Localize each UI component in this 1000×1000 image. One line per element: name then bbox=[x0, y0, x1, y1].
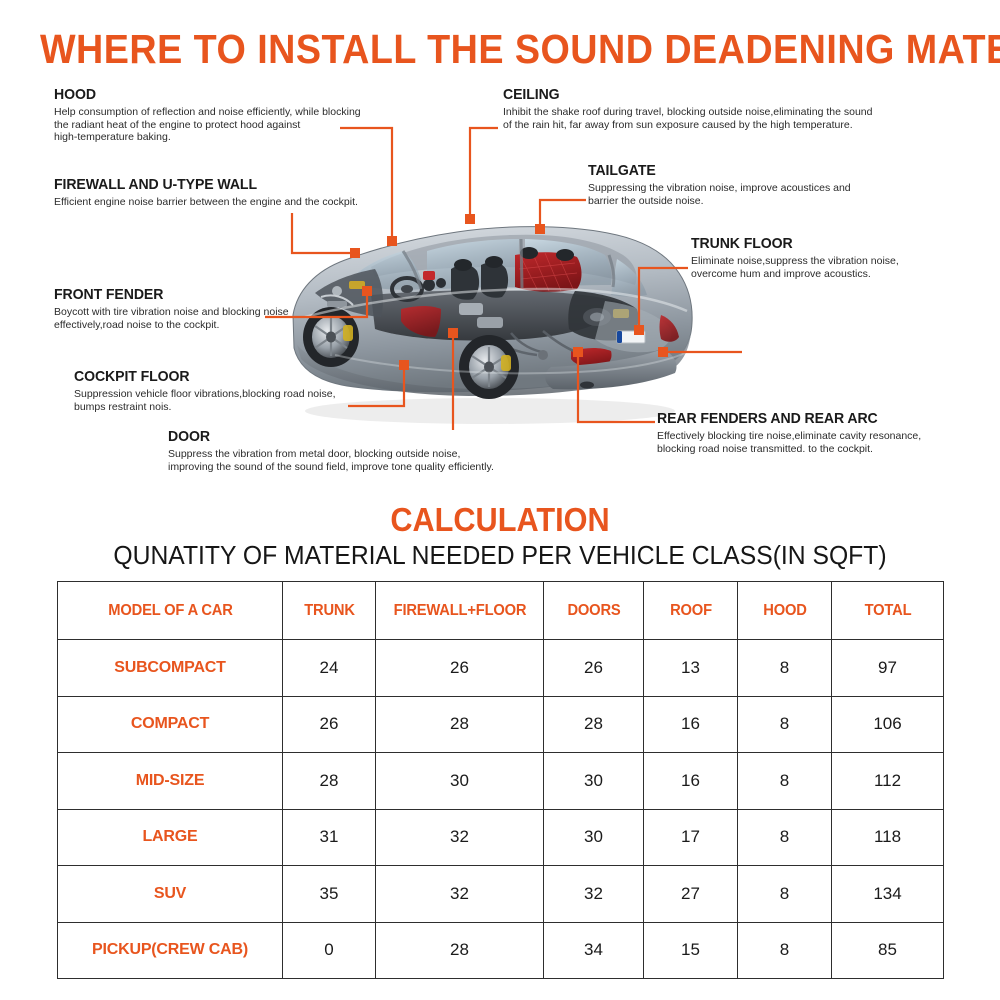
cell-roof: 17 bbox=[644, 809, 738, 866]
callout-firewall-desc: Efficient engine noise barrier between t… bbox=[54, 196, 454, 209]
cell-doors: 28 bbox=[544, 696, 644, 753]
callout-front-fender: FRONT FENDER Boycott with tire vibration… bbox=[54, 286, 384, 331]
cell-model: COMPACT bbox=[58, 696, 283, 753]
cell-total: 97 bbox=[832, 640, 944, 697]
cell-trunk: 24 bbox=[283, 640, 376, 697]
cell-doors: 30 bbox=[544, 809, 644, 866]
cell-firewall-floor: 26 bbox=[376, 640, 544, 697]
cell-total: 106 bbox=[832, 696, 944, 753]
callout-hood-desc: Help consumption of reflection and noise… bbox=[54, 106, 414, 144]
callout-cockpit-floor: COCKPIT FLOOR Suppression vehicle floor … bbox=[74, 368, 404, 413]
material-quantity-table: MODEL OF A CAR TRUNK FIREWALL+FLOOR DOOR… bbox=[57, 581, 944, 979]
table-row: COMPACT 26 28 28 16 8 106 bbox=[58, 696, 944, 753]
callout-tailgate-title: TAILGATE bbox=[588, 162, 936, 179]
cell-firewall-floor: 28 bbox=[376, 922, 544, 979]
cell-total: 85 bbox=[832, 922, 944, 979]
cell-roof: 15 bbox=[644, 922, 738, 979]
callout-tailgate: TAILGATE Suppressing the vibration noise… bbox=[588, 162, 958, 207]
page-title: WHERE TO INSTALL THE SOUND DEADENING MAT… bbox=[40, 26, 960, 73]
cell-trunk: 26 bbox=[283, 696, 376, 753]
callout-door-title: DOOR bbox=[168, 428, 544, 445]
col-header-firewall-floor: FIREWALL+FLOOR bbox=[380, 582, 540, 640]
table-header-row: MODEL OF A CAR TRUNK FIREWALL+FLOOR DOOR… bbox=[58, 582, 944, 640]
table-row: SUBCOMPACT 24 26 26 13 8 97 bbox=[58, 640, 944, 697]
cell-roof: 13 bbox=[644, 640, 738, 697]
cell-roof: 27 bbox=[644, 866, 738, 923]
cell-hood: 8 bbox=[738, 640, 832, 697]
col-header-roof: ROOF bbox=[646, 582, 735, 640]
cell-model: PICKUP(CREW CAB) bbox=[58, 922, 283, 979]
callout-ceiling: CEILING Inhibit the shake roof during tr… bbox=[503, 86, 963, 131]
cell-trunk: 31 bbox=[283, 809, 376, 866]
callout-hood: HOOD Help consumption of reflection and … bbox=[54, 86, 414, 144]
callout-ceiling-desc: Inhibit the shake roof during travel, bl… bbox=[503, 106, 963, 131]
cell-total: 112 bbox=[832, 753, 944, 810]
callout-door-desc: Suppress the vibration from metal door, … bbox=[168, 448, 568, 473]
cell-hood: 8 bbox=[738, 753, 832, 810]
cell-doors: 34 bbox=[544, 922, 644, 979]
cell-doors: 32 bbox=[544, 866, 644, 923]
cell-firewall-floor: 30 bbox=[376, 753, 544, 810]
cell-roof: 16 bbox=[644, 696, 738, 753]
callout-cockpit-floor-desc: Suppression vehicle floor vibrations,blo… bbox=[74, 388, 404, 413]
cell-hood: 8 bbox=[738, 866, 832, 923]
cell-total: 118 bbox=[832, 809, 944, 866]
cell-doors: 26 bbox=[544, 640, 644, 697]
callout-trunk-floor: TRUNK FLOOR Eliminate noise,suppress the… bbox=[691, 235, 981, 280]
callout-door: DOOR Suppress the vibration from metal d… bbox=[168, 428, 568, 473]
table-row: MID-SIZE 28 30 30 16 8 112 bbox=[58, 753, 944, 810]
cell-trunk: 35 bbox=[283, 866, 376, 923]
callout-firewall-title: FIREWALL AND U-TYPE WALL bbox=[54, 176, 430, 193]
cell-model: MID-SIZE bbox=[58, 753, 283, 810]
callout-cockpit-floor-title: COCKPIT FLOOR bbox=[74, 368, 384, 385]
table-row: PICKUP(CREW CAB) 0 28 34 15 8 85 bbox=[58, 922, 944, 979]
table-row: LARGE 31 32 30 17 8 118 bbox=[58, 809, 944, 866]
callout-ceiling-title: CEILING bbox=[503, 86, 935, 103]
col-header-total: TOTAL bbox=[834, 582, 940, 640]
col-header-model: MODEL OF A CAR bbox=[63, 582, 277, 640]
cell-doors: 30 bbox=[544, 753, 644, 810]
table-row: SUV 35 32 32 27 8 134 bbox=[58, 866, 944, 923]
cell-model: SUV bbox=[58, 866, 283, 923]
callout-rear-fenders: REAR FENDERS AND REAR ARC Effectively bl… bbox=[657, 410, 987, 455]
callout-firewall: FIREWALL AND U-TYPE WALL Efficient engin… bbox=[54, 176, 454, 209]
callout-rear-fenders-title: REAR FENDERS AND REAR ARC bbox=[657, 410, 967, 427]
cell-trunk: 28 bbox=[283, 753, 376, 810]
callout-trunk-floor-title: TRUNK FLOOR bbox=[691, 235, 964, 252]
cell-trunk: 0 bbox=[283, 922, 376, 979]
cell-total: 134 bbox=[832, 866, 944, 923]
cell-roof: 16 bbox=[644, 753, 738, 810]
callout-front-fender-title: FRONT FENDER bbox=[54, 286, 364, 303]
cell-firewall-floor: 28 bbox=[376, 696, 544, 753]
col-header-doors: DOORS bbox=[546, 582, 641, 640]
callout-trunk-floor-desc: Eliminate noise,suppress the vibration n… bbox=[691, 255, 981, 280]
col-header-hood: HOOD bbox=[740, 582, 829, 640]
cell-model: SUBCOMPACT bbox=[58, 640, 283, 697]
callout-hood-title: HOOD bbox=[54, 86, 392, 103]
callout-tailgate-desc: Suppressing the vibration noise, improve… bbox=[588, 182, 958, 207]
cell-hood: 8 bbox=[738, 809, 832, 866]
col-header-trunk: TRUNK bbox=[285, 582, 373, 640]
callout-rear-fenders-desc: Effectively blocking tire noise,eliminat… bbox=[657, 430, 987, 455]
cell-hood: 8 bbox=[738, 696, 832, 753]
cell-model: LARGE bbox=[58, 809, 283, 866]
infographic-page: WHERE TO INSTALL THE SOUND DEADENING MAT… bbox=[0, 0, 1000, 1000]
calculation-title: CALCULATION bbox=[35, 501, 965, 539]
calculation-subtitle: QUNATITY OF MATERIAL NEEDED PER VEHICLE … bbox=[25, 540, 975, 571]
callout-front-fender-desc: Boycott with tire vibration noise and bl… bbox=[54, 306, 384, 331]
cell-firewall-floor: 32 bbox=[376, 809, 544, 866]
cell-firewall-floor: 32 bbox=[376, 866, 544, 923]
cell-hood: 8 bbox=[738, 922, 832, 979]
